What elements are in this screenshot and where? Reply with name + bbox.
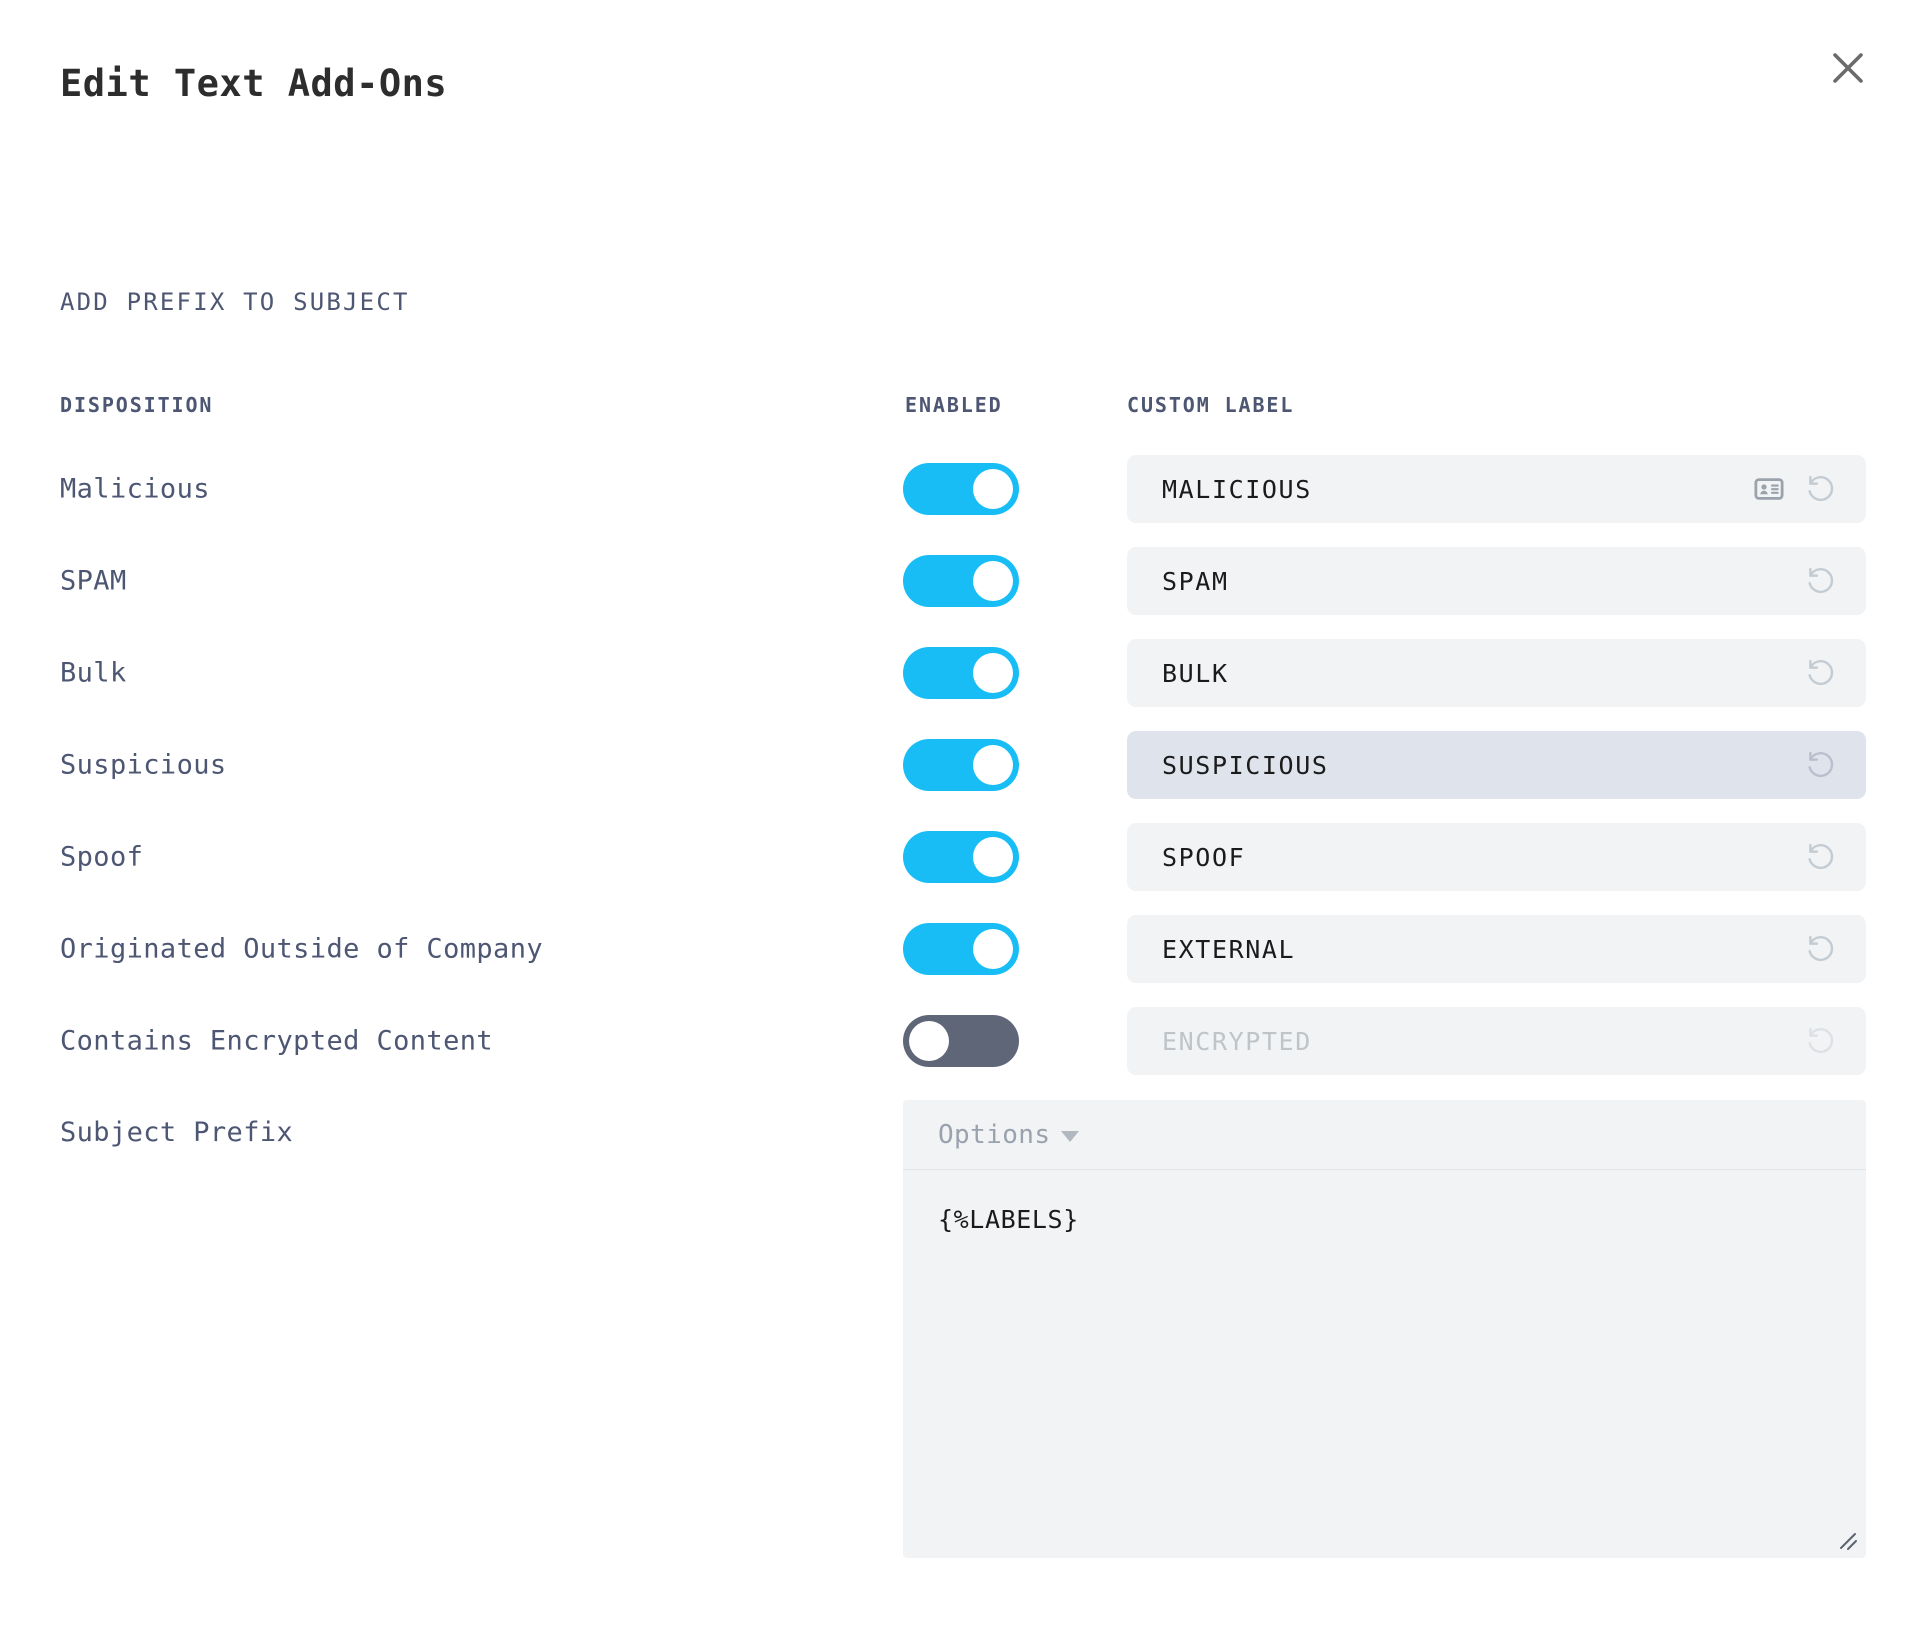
table-row: BulkBULK [0, 639, 1908, 707]
field-icon-group [1804, 1024, 1838, 1058]
disposition-label: SPAM [60, 566, 127, 597]
custom-label-input[interactable]: SPAM [1127, 547, 1866, 615]
custom-label-input[interactable]: SUSPICIOUS [1127, 731, 1866, 799]
enabled-toggle[interactable] [903, 739, 1019, 791]
toggle-knob [973, 469, 1013, 509]
disposition-label: Contains Encrypted Content [60, 1026, 493, 1057]
enabled-toggle[interactable] [903, 1015, 1019, 1067]
field-icon-group [1804, 564, 1838, 598]
custom-label-input[interactable]: BULK [1127, 639, 1866, 707]
close-icon [1831, 51, 1865, 85]
custom-label-value: EXTERNAL [1162, 935, 1295, 964]
custom-label-value: MALICIOUS [1162, 475, 1312, 504]
table-row: Contains Encrypted ContentENCRYPTED [0, 1007, 1908, 1075]
reset-icon[interactable] [1804, 472, 1838, 506]
enabled-toggle[interactable] [903, 831, 1019, 883]
field-icon-group [1804, 656, 1838, 690]
column-header-disposition: DISPOSITION [60, 393, 213, 417]
column-header-custom-label: CUSTOM LABEL [1127, 393, 1294, 417]
disposition-label: Originated Outside of Company [60, 934, 543, 965]
enabled-toggle[interactable] [903, 923, 1019, 975]
subject-prefix-textarea[interactable]: {%LABELS} [903, 1171, 1866, 1558]
enabled-toggle[interactable] [903, 463, 1019, 515]
options-button[interactable]: Options [938, 1120, 1079, 1150]
custom-label-value: SPAM [1162, 567, 1229, 596]
reset-icon [1804, 1024, 1838, 1058]
reset-icon[interactable] [1804, 840, 1838, 874]
subject-prefix-editor: Options {%LABELS} [903, 1100, 1866, 1558]
toggle-knob [973, 745, 1013, 785]
resize-grip-icon[interactable] [1833, 1526, 1859, 1552]
column-header-enabled: ENABLED [905, 393, 1003, 417]
custom-label-value: BULK [1162, 659, 1229, 688]
contact-card-icon[interactable] [1754, 474, 1784, 504]
section-title: ADD PREFIX TO SUBJECT [60, 288, 410, 316]
table-row: SPAMSPAM [0, 547, 1908, 615]
reset-icon[interactable] [1804, 748, 1838, 782]
toggle-knob [973, 837, 1013, 877]
table-row: SpoofSPOOF [0, 823, 1908, 891]
toggle-knob [909, 1021, 949, 1061]
toggle-knob [973, 653, 1013, 693]
reset-icon[interactable] [1804, 564, 1838, 598]
enabled-toggle[interactable] [903, 647, 1019, 699]
field-icon-group [1754, 472, 1838, 506]
disposition-label: Suspicious [60, 750, 227, 781]
toggle-knob [973, 929, 1013, 969]
chevron-down-icon [1061, 1131, 1079, 1142]
subject-prefix-label: Subject Prefix [60, 1117, 293, 1148]
reset-icon[interactable] [1804, 932, 1838, 966]
custom-label-input[interactable]: MALICIOUS [1127, 455, 1866, 523]
custom-label-input[interactable]: SPOOF [1127, 823, 1866, 891]
field-icon-group [1804, 932, 1838, 966]
disposition-label: Bulk [60, 658, 127, 689]
custom-label-value: SUSPICIOUS [1162, 751, 1329, 780]
custom-label-input: ENCRYPTED [1127, 1007, 1866, 1075]
options-button-label: Options [938, 1120, 1050, 1150]
enabled-toggle[interactable] [903, 555, 1019, 607]
close-button[interactable] [1820, 40, 1876, 96]
field-icon-group [1804, 840, 1838, 874]
disposition-label: Spoof [60, 842, 143, 873]
field-icon-group [1804, 748, 1838, 782]
table-row: MaliciousMALICIOUS [0, 455, 1908, 523]
custom-label-value: ENCRYPTED [1162, 1027, 1312, 1056]
custom-label-input[interactable]: EXTERNAL [1127, 915, 1866, 983]
table-row: Originated Outside of CompanyEXTERNAL [0, 915, 1908, 983]
reset-icon[interactable] [1804, 656, 1838, 690]
toggle-knob [973, 561, 1013, 601]
custom-label-value: SPOOF [1162, 843, 1245, 872]
disposition-label: Malicious [60, 474, 210, 505]
page-title: Edit Text Add-Ons [60, 62, 447, 105]
editor-toolbar: Options [903, 1100, 1866, 1170]
table-row: SuspiciousSUSPICIOUS [0, 731, 1908, 799]
